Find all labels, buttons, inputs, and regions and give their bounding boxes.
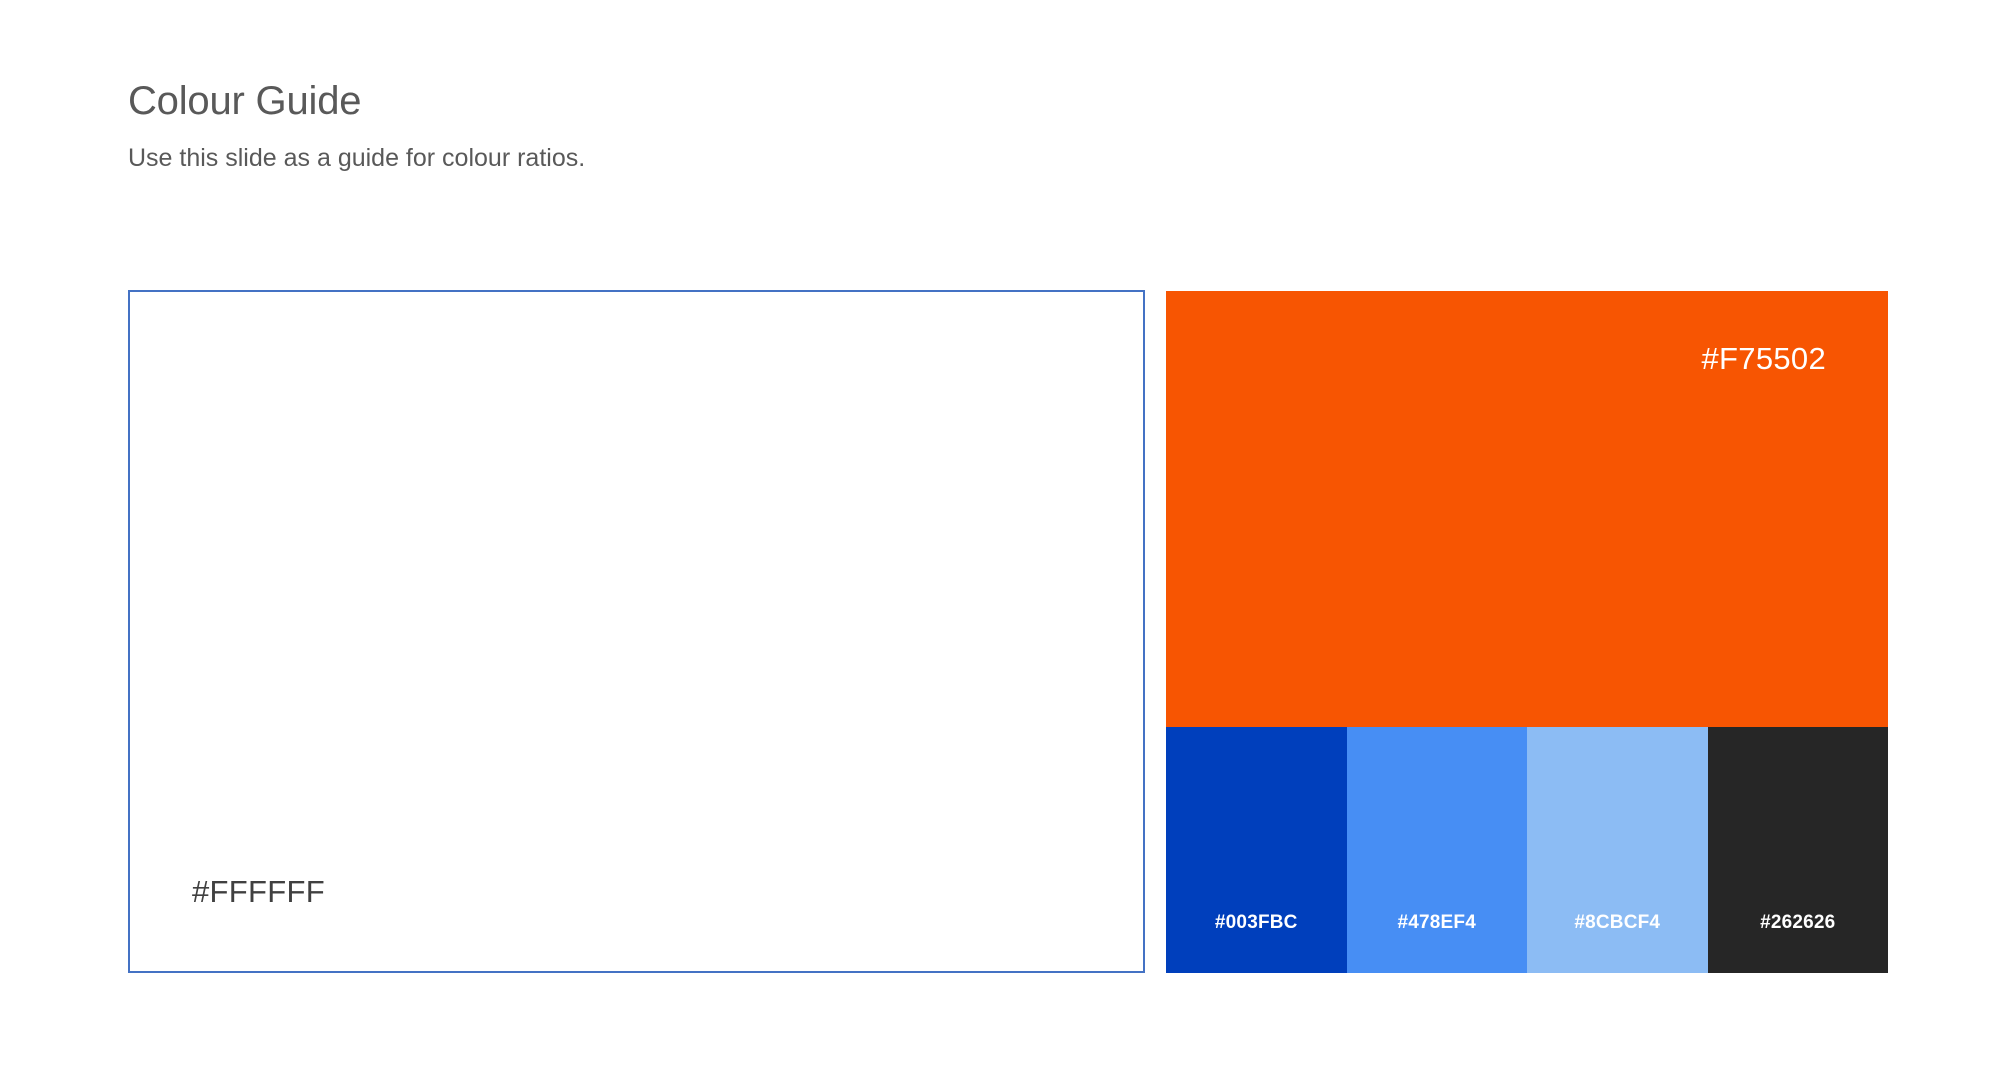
deep-blue-swatch-label: #003FBC bbox=[1166, 912, 1347, 934]
page-subtitle: Use this slide as a guide for colour rat… bbox=[128, 124, 1328, 175]
accent-swatch-stack: #F75502 #003FBC #478EF4 #8CBCF4 #262626 bbox=[1166, 291, 1888, 973]
light-blue-swatch[interactable]: #8CBCF4 bbox=[1527, 727, 1708, 973]
colour-ratio-swatches: #FFFFFF #F75502 #003FBC #478EF4 #8CBCF4 … bbox=[128, 290, 1888, 973]
colour-guide-slide: Colour Guide Use this slide as a guide f… bbox=[0, 0, 2000, 1074]
mid-blue-swatch[interactable]: #478EF4 bbox=[1347, 727, 1528, 973]
deep-blue-swatch[interactable]: #003FBC bbox=[1166, 727, 1347, 973]
near-black-swatch-label: #262626 bbox=[1708, 912, 1889, 934]
page-title: Colour Guide bbox=[128, 78, 1328, 124]
white-swatch-label: #FFFFFF bbox=[192, 874, 325, 910]
near-black-swatch[interactable]: #262626 bbox=[1708, 727, 1889, 973]
supporting-swatch-row: #003FBC #478EF4 #8CBCF4 #262626 bbox=[1166, 727, 1888, 973]
orange-swatch[interactable]: #F75502 bbox=[1166, 291, 1888, 727]
mid-blue-swatch-label: #478EF4 bbox=[1347, 912, 1528, 934]
light-blue-swatch-label: #8CBCF4 bbox=[1527, 912, 1708, 934]
orange-swatch-label: #F75502 bbox=[1702, 341, 1826, 377]
slide-header: Colour Guide Use this slide as a guide f… bbox=[128, 78, 1328, 175]
white-swatch[interactable]: #FFFFFF bbox=[128, 290, 1145, 973]
